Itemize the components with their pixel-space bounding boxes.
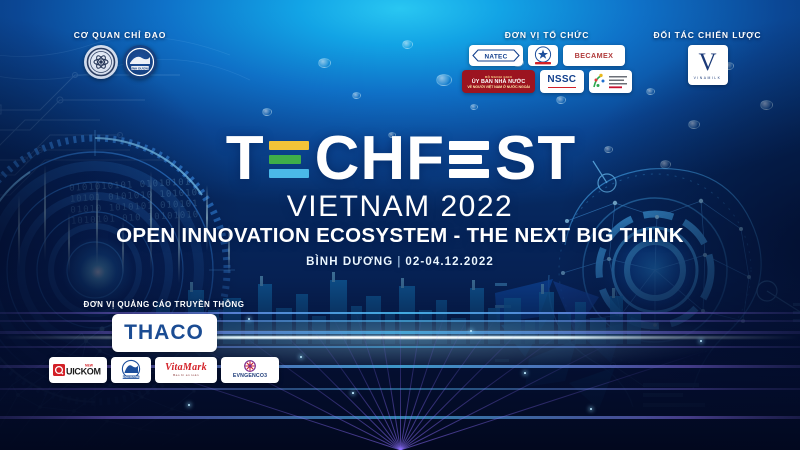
svg-text:BÌNH DƯƠNG: BÌNH DƯƠNG	[129, 65, 150, 70]
most-seal-logo[interactable]	[84, 45, 118, 79]
strategic-partner-block: ĐỐI TÁC CHIẾN LƯỢC V VINAMILK	[645, 30, 770, 85]
event-location-date: BÌNH DƯƠNG|02-04.12.2022	[0, 256, 800, 268]
svg-text:NEW: NEW	[85, 363, 94, 367]
event-tagline: OPEN INNOVATION ECOSYSTEM - THE NEXT BIG…	[0, 224, 800, 248]
wordmark-letter-t2: T	[537, 130, 574, 188]
evngenco3-label: EVNGENCO3	[233, 374, 267, 379]
becamex-label: BECAMEX	[575, 52, 614, 60]
nssc-underline-decoration	[548, 87, 576, 88]
strategic-partner-title: ĐỐI TÁC CHIẾN LƯỢC	[645, 30, 770, 40]
vitamark-label: VitaMark	[165, 363, 207, 374]
wordmark-letter-f: F	[406, 130, 443, 188]
directing-agency-block: CƠ QUAN CHỈ ĐẠO	[55, 30, 185, 79]
wordmark-letter-s: S	[495, 130, 535, 188]
event-dates: 02-04.12.2022	[405, 256, 493, 268]
location-date-separator: |	[393, 256, 405, 268]
directing-agency-logo-row: BÌNH DƯƠNG	[55, 45, 185, 79]
media-partners-logo-row: UICKOM NEW BÌNH DƯƠNG VitaMark Bao bì an…	[38, 357, 290, 383]
wordmark-letter-t1: T	[226, 130, 263, 188]
vitamark-logo[interactable]: VitaMark Bao bì an toàn	[155, 357, 217, 383]
thaco-logo[interactable]: THACO	[112, 314, 217, 352]
organizers-logo-row-2: BỘ NGOẠI GIAO ỦY BAN NHÀ NƯỚC VỀ NGƯỜI V…	[462, 70, 632, 93]
organizers-logo-row-1: NATEC BECAMEX	[462, 45, 632, 66]
techfest-poster: 0101010101 01010101 10101 0101010 101010…	[0, 0, 800, 450]
strategic-partner-logo-row: V VINAMILK	[645, 45, 770, 85]
government-emblem-logo[interactable]	[528, 45, 558, 66]
event-subtitle: VIETNAM 2022	[0, 190, 800, 224]
government-emblem-icon	[532, 46, 554, 65]
wordmark-letter-e2-white	[449, 136, 489, 182]
natec-mark-icon: NATEC	[471, 48, 521, 63]
vitamark-sublabel: Bao bì an toàn	[173, 373, 199, 377]
svg-text:UICKOM: UICKOM	[66, 367, 101, 377]
techfest-wordmark: T C H F S T	[0, 128, 800, 190]
quickom-mark-icon: UICKOM NEW	[52, 361, 104, 379]
blue-emblem-logo[interactable]: BÌNH DƯƠNG	[111, 357, 151, 383]
vinamilk-v-mark: V	[698, 51, 716, 75]
media-partners-block: ĐƠN VỊ QUẢNG CÁO TRUYỀN THÔNG THACO UICK…	[38, 300, 290, 383]
sconvn-logo[interactable]: BỘ NGOẠI GIAO ỦY BAN NHÀ NƯỚC VỀ NGƯỜI V…	[462, 70, 535, 93]
nssc-label: NSSC	[547, 75, 576, 86]
becamex-logo[interactable]: BECAMEX	[563, 45, 625, 66]
directing-agency-title: CƠ QUAN CHỈ ĐẠO	[55, 30, 185, 40]
organizers-block: ĐƠN VỊ TỔ CHỨC NATEC BECAMEX	[462, 30, 632, 93]
most-emblem-icon	[86, 47, 116, 77]
binh-duong-emblem-icon: BÌNH DƯƠNG	[125, 47, 155, 77]
blue-emblem-icon: BÌNH DƯƠNG	[119, 359, 143, 382]
wordmark-letter-e1-colored	[269, 136, 309, 182]
partner-logo-colorful[interactable]	[589, 70, 632, 93]
quickom-logo[interactable]: UICKOM NEW	[49, 357, 107, 383]
svg-text:NATEC: NATEC	[484, 53, 507, 60]
sconvn-line3: VỀ NGƯỜI VIỆT NAM Ở NƯỚC NGOÀI	[467, 85, 529, 89]
evngenco3-logo[interactable]: EVNGENCO3	[221, 357, 279, 383]
vinamilk-label: VINAMILK	[694, 76, 722, 80]
wordmark-letter-h: H	[360, 130, 404, 188]
event-location: BÌNH DƯƠNG	[306, 256, 393, 268]
colorful-partner-mark-icon	[590, 72, 630, 91]
binh-duong-seal-logo[interactable]: BÌNH DƯƠNG	[123, 45, 157, 79]
thaco-label: THACO	[124, 322, 204, 344]
natec-logo[interactable]: NATEC	[469, 45, 523, 66]
organizers-title: ĐƠN VỊ TỔ CHỨC	[462, 30, 632, 40]
wordmark-letter-c: C	[315, 130, 359, 188]
nssc-logo[interactable]: NSSC	[540, 70, 583, 93]
media-partners-title: ĐƠN VỊ QUẢNG CÁO TRUYỀN THÔNG	[38, 300, 290, 309]
vinamilk-logo[interactable]: V VINAMILK	[688, 45, 728, 85]
media-partners-headline-row: THACO	[38, 314, 290, 352]
evngenco3-mark-icon	[242, 360, 258, 373]
